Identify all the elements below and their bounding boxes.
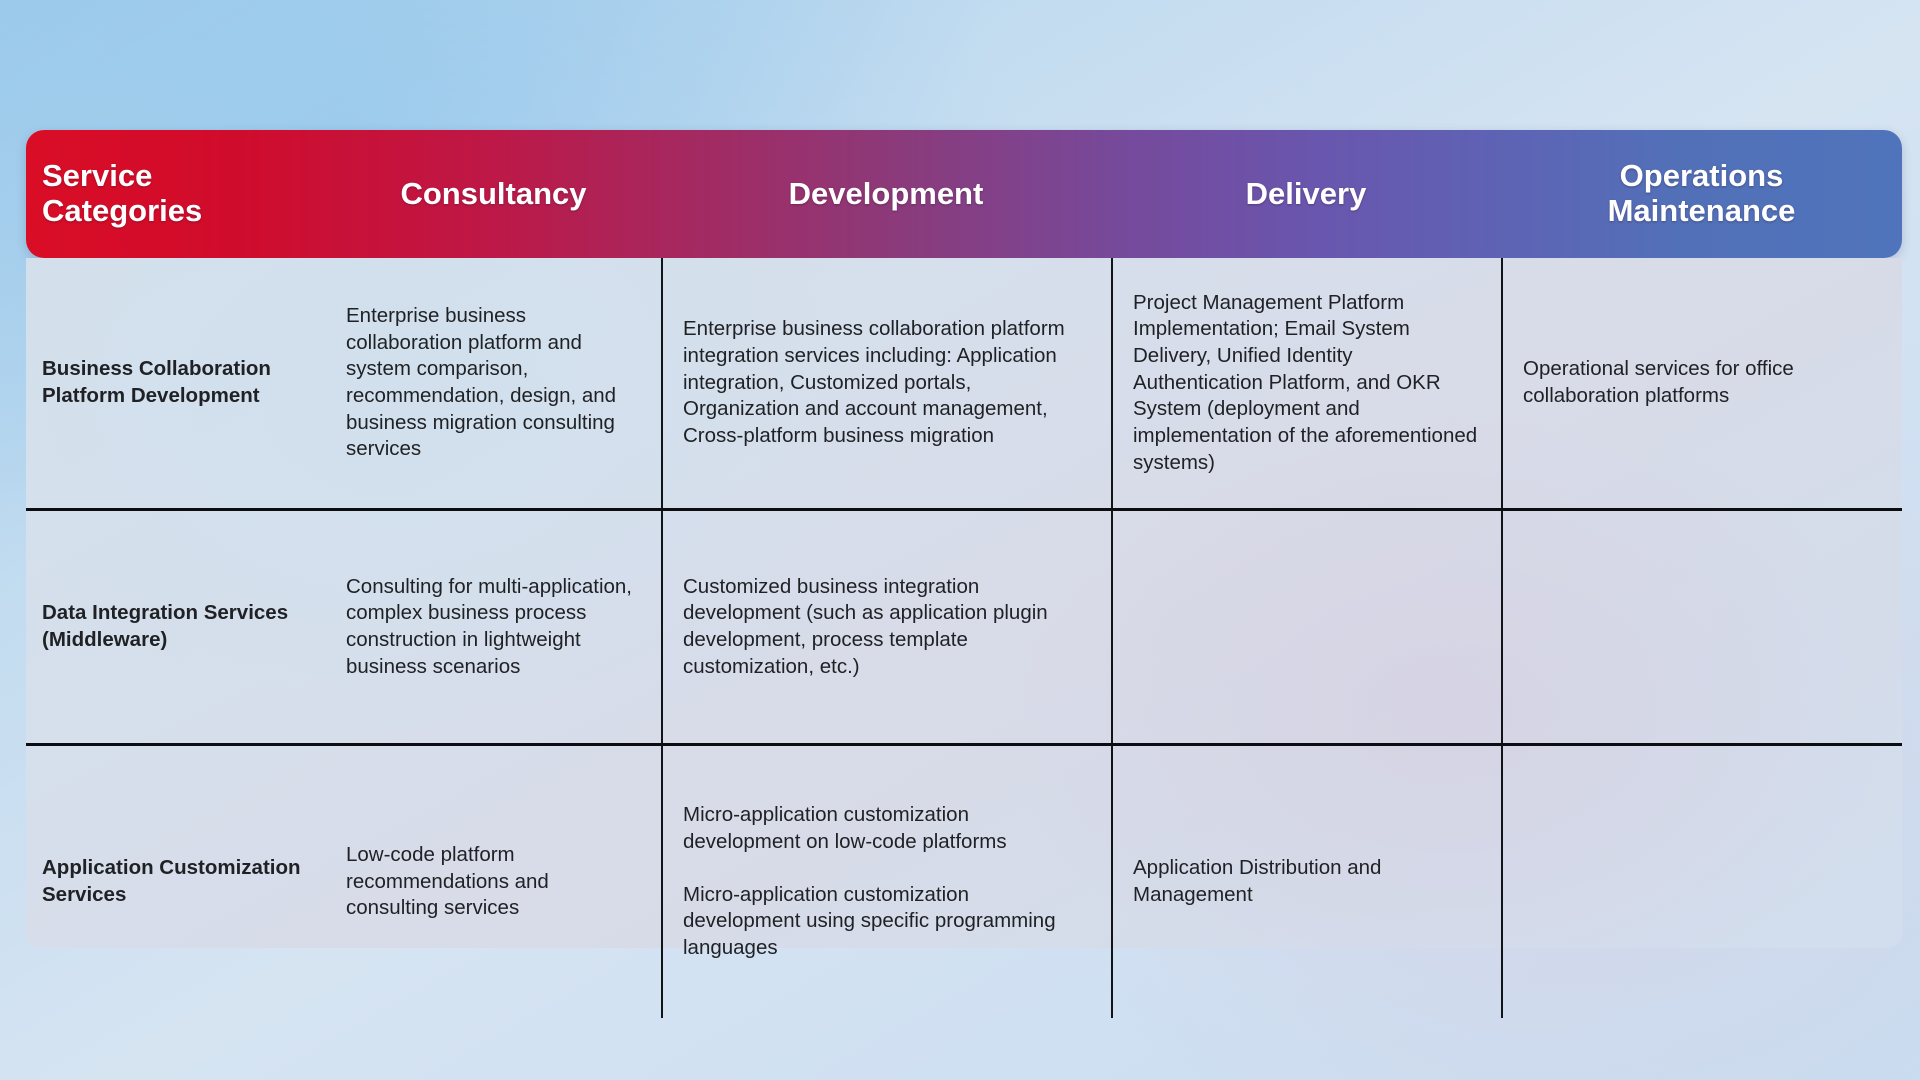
- header-service-categories-line2: Categories: [42, 193, 202, 228]
- cell-consultancy: Low-code platform recommendations and co…: [326, 743, 661, 1018]
- header-consultancy-label: Consultancy: [326, 177, 661, 212]
- cell-consultancy: Consulting for multi-application, comple…: [326, 508, 661, 743]
- cell-delivery: [1111, 508, 1501, 743]
- table-row: Data Integration Services (Middleware) C…: [26, 508, 1902, 743]
- cell-development: Micro-application customization developm…: [661, 743, 1111, 1018]
- cell-development: Customized business integration developm…: [661, 508, 1111, 743]
- table-row: Application Customization Services Low-c…: [26, 743, 1902, 1018]
- header-cell-consultancy: Consultancy: [326, 130, 661, 258]
- header-operations-line2: Maintenance: [1608, 193, 1796, 228]
- cell-operations-maintenance: [1501, 508, 1902, 743]
- cell-development-item: Micro-application customization developm…: [683, 882, 1091, 962]
- cell-consultancy: Enterprise business collaboration platfo…: [326, 258, 661, 508]
- cell-operations-maintenance: [1501, 743, 1902, 1018]
- header-delivery-label: Delivery: [1111, 177, 1501, 212]
- service-matrix-table: Service Categories Consultancy Developme…: [26, 130, 1902, 1018]
- cell-development: Enterprise business collaboration platfo…: [661, 258, 1111, 508]
- header-cell-development: Development: [661, 130, 1111, 258]
- row-category-label: Business Collaboration Platform Developm…: [26, 258, 326, 508]
- header-cell-operations-maintenance: Operations Maintenance: [1501, 130, 1902, 258]
- header-service-categories-line1: Service: [42, 158, 152, 193]
- header-operations-line1: Operations: [1620, 158, 1784, 193]
- table-header-row: Service Categories Consultancy Developme…: [26, 130, 1902, 258]
- cell-development-item: Micro-application customization developm…: [683, 802, 1091, 855]
- cell-delivery: Application Distribution and Management: [1111, 743, 1501, 1018]
- cell-delivery: Project Management Platform Implementati…: [1111, 258, 1501, 508]
- header-cell-delivery: Delivery: [1111, 130, 1501, 258]
- cell-operations-maintenance: Operational services for office collabor…: [1501, 258, 1902, 508]
- header-cell-service-categories: Service Categories: [26, 130, 326, 258]
- row-category-label: Data Integration Services (Middleware): [26, 508, 326, 743]
- row-category-label: Application Customization Services: [26, 743, 326, 1018]
- table-row: Business Collaboration Platform Developm…: [26, 258, 1902, 508]
- header-development-label: Development: [661, 177, 1111, 212]
- service-categories-table: Service Categories Consultancy Developme…: [26, 130, 1902, 1018]
